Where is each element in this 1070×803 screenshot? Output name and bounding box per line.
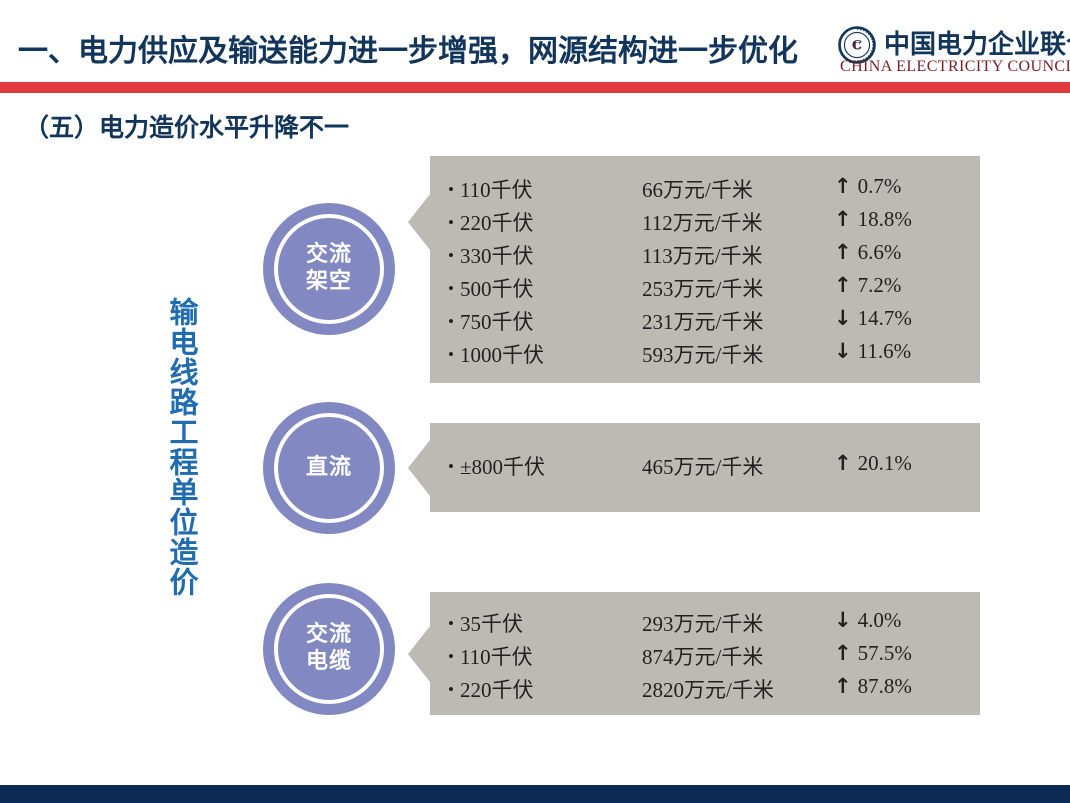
section-subtitle: （五）电力造价水平升降不一 — [24, 108, 349, 144]
table-row: •220千伏 112万元/千米 ↑18.8% — [430, 207, 980, 239]
cell-change: ↑0.7% — [834, 174, 901, 199]
cell-voltage-level: •330千伏 — [448, 240, 533, 270]
row-list-ac-overhead: •110千伏 66万元/千米 ↑0.7% •220千伏 112万元/千米 ↑18… — [430, 156, 980, 383]
circle-label-line: 架空 — [306, 269, 352, 296]
group-circle-ac-cable[interactable]: 交流 电缆 — [263, 583, 395, 715]
cell-unit-price: 874万元/千米 — [642, 641, 763, 671]
cell-unit-price: 593万元/千米 — [642, 339, 763, 369]
logo-name-cn: 中国电力企业联合会 — [884, 24, 1070, 61]
group-circle-dc[interactable]: 直流 — [263, 402, 395, 534]
cell-voltage-level: •1000千伏 — [448, 339, 544, 369]
cell-unit-price: 113万元/千米 — [642, 240, 763, 270]
bullet-icon: • — [448, 279, 454, 299]
trend-up-icon: ↑ — [834, 240, 852, 264]
table-row: •110千伏 874万元/千米 ↑57.5% — [430, 641, 980, 673]
slide: 一、电力供应及输送能力进一步增强，网源结构进一步优化 C C 中国电力企业联合会… — [0, 0, 1070, 803]
cell-unit-price: 112万元/千米 — [642, 207, 763, 237]
header-divider — [0, 82, 1070, 93]
slide-header: 一、电力供应及输送能力进一步增强，网源结构进一步优化 C C 中国电力企业联合会… — [0, 0, 1070, 82]
bullet-icon: • — [448, 213, 454, 233]
table-row: •330千伏 113万元/千米 ↑6.6% — [430, 240, 980, 272]
group-circle-ac-overhead[interactable]: 交流 架空 — [263, 203, 395, 335]
footer-bar — [0, 785, 1070, 803]
bullet-icon: • — [448, 312, 454, 332]
circle-label-line: 电缆 — [306, 649, 352, 676]
trend-down-icon: ↓ — [834, 339, 852, 363]
bullet-icon: • — [448, 614, 454, 634]
table-row: •220千伏 2820万元/千米 ↑87.8% — [430, 674, 980, 706]
row-list-ac-cable: •35千伏 293万元/千米 ↓4.0% •110千伏 874万元/千米 ↑57… — [430, 592, 980, 715]
cell-unit-price: 66万元/千米 — [642, 174, 753, 204]
table-row: •110千伏 66万元/千米 ↑0.7% — [430, 174, 980, 206]
panel-ac-cable: •35千伏 293万元/千米 ↓4.0% •110千伏 874万元/千米 ↑57… — [430, 592, 980, 715]
trend-up-icon: ↑ — [834, 674, 852, 698]
cell-unit-price: 253万元/千米 — [642, 273, 763, 303]
circle-label-ac-cable: 交流 电缆 — [263, 583, 395, 715]
trend-up-icon: ↑ — [834, 273, 852, 297]
circle-label-line: 交流 — [306, 242, 352, 269]
row-list-dc: •±800千伏 465万元/千米 ↑20.1% — [430, 423, 980, 512]
cell-voltage-level: •110千伏 — [448, 174, 533, 204]
panel-notch-icon — [408, 194, 430, 250]
panel-notch-icon — [408, 626, 430, 682]
panel-ac-overhead: •110千伏 66万元/千米 ↑0.7% •220千伏 112万元/千米 ↑18… — [430, 156, 980, 383]
cell-change: ↓11.6% — [834, 339, 911, 364]
table-row: •35千伏 293万元/千米 ↓4.0% — [430, 608, 980, 640]
cell-voltage-level: •±800千伏 — [448, 451, 545, 481]
cell-unit-price: 2820万元/千米 — [642, 674, 774, 704]
trend-up-icon: ↑ — [834, 174, 852, 198]
bullet-icon: • — [448, 246, 454, 266]
cell-change: ↓14.7% — [834, 306, 912, 331]
page-title: 一、电力供应及输送能力进一步增强，网源结构进一步优化 — [18, 26, 798, 70]
panel-dc: •±800千伏 465万元/千米 ↑20.1% — [430, 423, 980, 512]
svg-text:C: C — [853, 41, 860, 52]
bullet-icon: • — [448, 680, 454, 700]
organization-logo: C C 中国电力企业联合会 CHINA ELECTRICITY COUNCIL — [838, 24, 1064, 80]
bullet-icon: • — [448, 647, 454, 667]
table-row: •1000千伏 593万元/千米 ↓11.6% — [430, 339, 980, 371]
circle-label-dc: 直流 — [263, 402, 395, 534]
logo-name-en: CHINA ELECTRICITY COUNCIL — [840, 58, 1070, 76]
cell-unit-price: 465万元/千米 — [642, 451, 763, 481]
trend-up-icon: ↑ — [834, 207, 852, 231]
cell-change: ↑18.8% — [834, 207, 912, 232]
cell-unit-price: 293万元/千米 — [642, 608, 763, 638]
trend-up-icon: ↑ — [834, 451, 852, 475]
cell-voltage-level: •110千伏 — [448, 641, 533, 671]
trend-down-icon: ↓ — [834, 306, 852, 330]
cell-voltage-level: •220千伏 — [448, 674, 533, 704]
cell-change: ↑6.6% — [834, 240, 901, 265]
bullet-icon: • — [448, 457, 454, 477]
bullet-icon: • — [448, 345, 454, 365]
cell-change: ↑57.5% — [834, 641, 912, 666]
cell-voltage-level: •500千伏 — [448, 273, 533, 303]
cell-change: ↑7.2% — [834, 273, 901, 298]
cell-unit-price: 231万元/千米 — [642, 306, 763, 336]
trend-down-icon: ↓ — [834, 608, 852, 632]
cell-voltage-level: •750千伏 — [448, 306, 533, 336]
bullet-icon: • — [448, 180, 454, 200]
cell-voltage-level: •35千伏 — [448, 608, 523, 638]
table-row: •±800千伏 465万元/千米 ↑20.1% — [430, 451, 980, 483]
trend-up-icon: ↑ — [834, 641, 852, 665]
cell-change: ↑87.8% — [834, 674, 912, 699]
cell-voltage-level: •220千伏 — [448, 207, 533, 237]
vertical-category-label: 输电线路工程单位造价 — [150, 297, 196, 597]
cell-change: ↑20.1% — [834, 451, 912, 476]
table-row: •750千伏 231万元/千米 ↓14.7% — [430, 306, 980, 338]
panel-notch-icon — [408, 440, 430, 496]
circle-label-ac-overhead: 交流 架空 — [263, 203, 395, 335]
circle-label-line: 交流 — [306, 622, 352, 649]
table-row: •500千伏 253万元/千米 ↑7.2% — [430, 273, 980, 305]
circle-label-line: 直流 — [306, 455, 352, 482]
cell-change: ↓4.0% — [834, 608, 901, 633]
